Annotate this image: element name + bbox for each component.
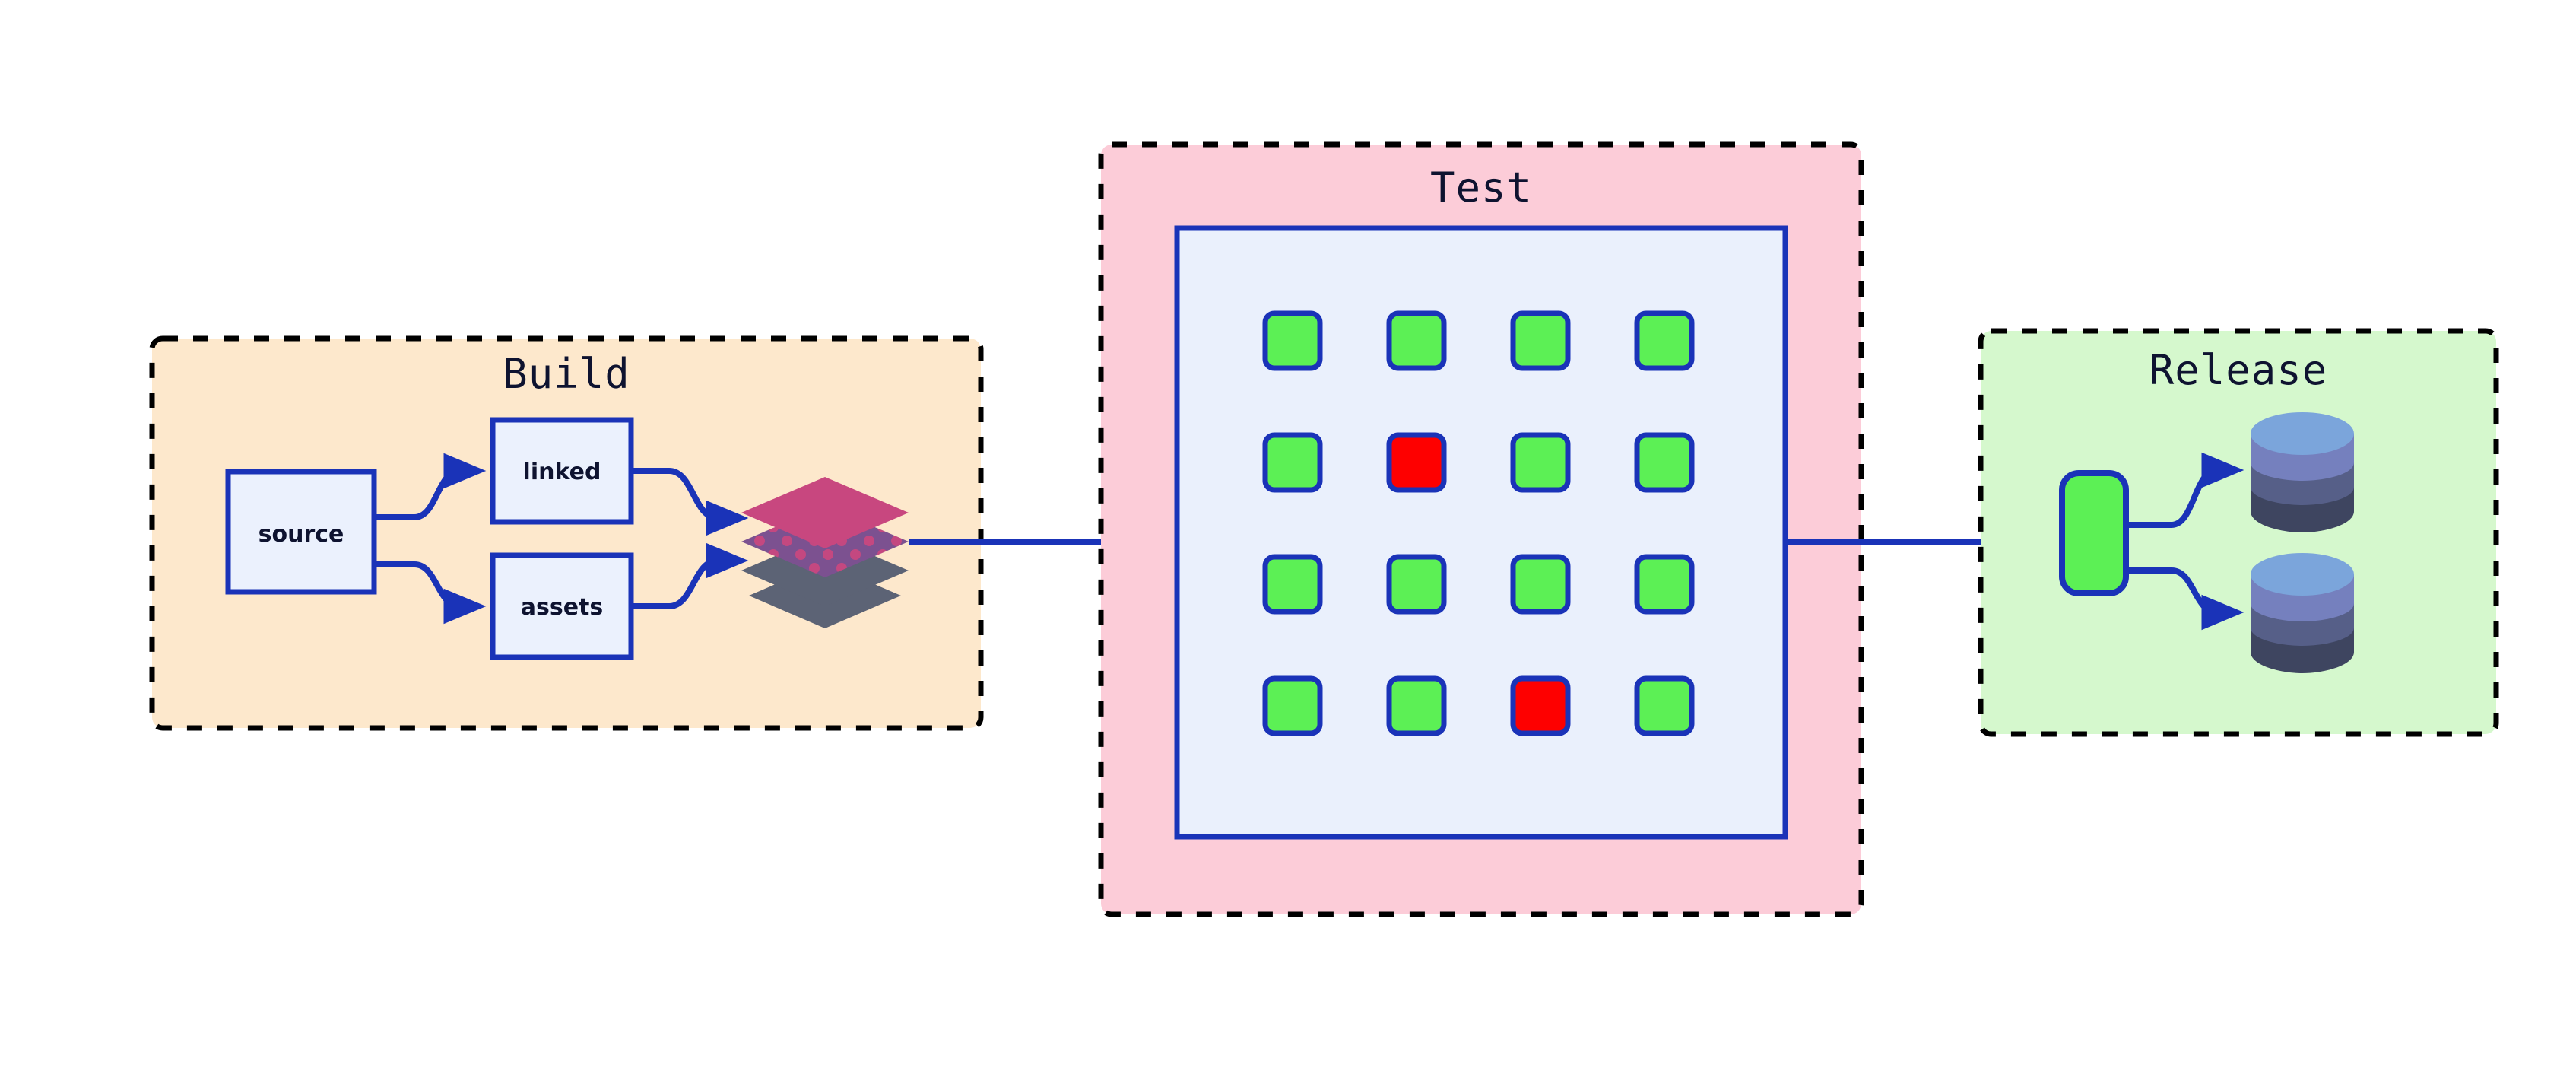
assets-label: assets: [521, 594, 604, 621]
test-cell[interactable]: [1637, 679, 1692, 733]
test-title: Test: [1430, 164, 1532, 211]
test-cell[interactable]: [1513, 313, 1568, 368]
test-cell[interactable]: [1265, 679, 1320, 733]
deploy-block[interactable]: [2062, 473, 2126, 593]
build-title: Build: [503, 350, 630, 398]
test-cell-failed[interactable]: [1513, 679, 1568, 733]
test-cell[interactable]: [1265, 313, 1320, 368]
stage-release[interactable]: Release: [1981, 331, 2496, 734]
node-source[interactable]: source: [228, 472, 374, 592]
database-top-icon: [2251, 412, 2354, 532]
test-cell[interactable]: [1637, 313, 1692, 368]
db-top-disc: [2251, 553, 2354, 596]
test-cell[interactable]: [1265, 557, 1320, 612]
linked-label: linked: [523, 459, 601, 485]
stage-build[interactable]: Build source linked assets: [152, 339, 981, 728]
node-linked[interactable]: linked: [493, 420, 631, 522]
source-label: source: [259, 521, 344, 548]
diagram-canvas: Build source linked assets: [0, 0, 2576, 1068]
stage-test[interactable]: Test: [1101, 145, 1861, 914]
release-title: Release: [2149, 346, 2328, 394]
test-cell[interactable]: [1389, 679, 1444, 733]
pipeline-diagram: Build source linked assets: [0, 0, 2576, 1068]
test-cell[interactable]: [1389, 557, 1444, 612]
db-top-disc: [2251, 412, 2354, 455]
test-cell[interactable]: [1389, 313, 1444, 368]
test-cell[interactable]: [1265, 435, 1320, 490]
node-assets[interactable]: assets: [493, 555, 631, 657]
test-cell[interactable]: [1513, 435, 1568, 490]
test-cell-failed[interactable]: [1389, 435, 1444, 490]
test-cell[interactable]: [1637, 557, 1692, 612]
test-cell[interactable]: [1637, 435, 1692, 490]
test-cell[interactable]: [1513, 557, 1568, 612]
database-bottom-icon: [2251, 553, 2354, 673]
